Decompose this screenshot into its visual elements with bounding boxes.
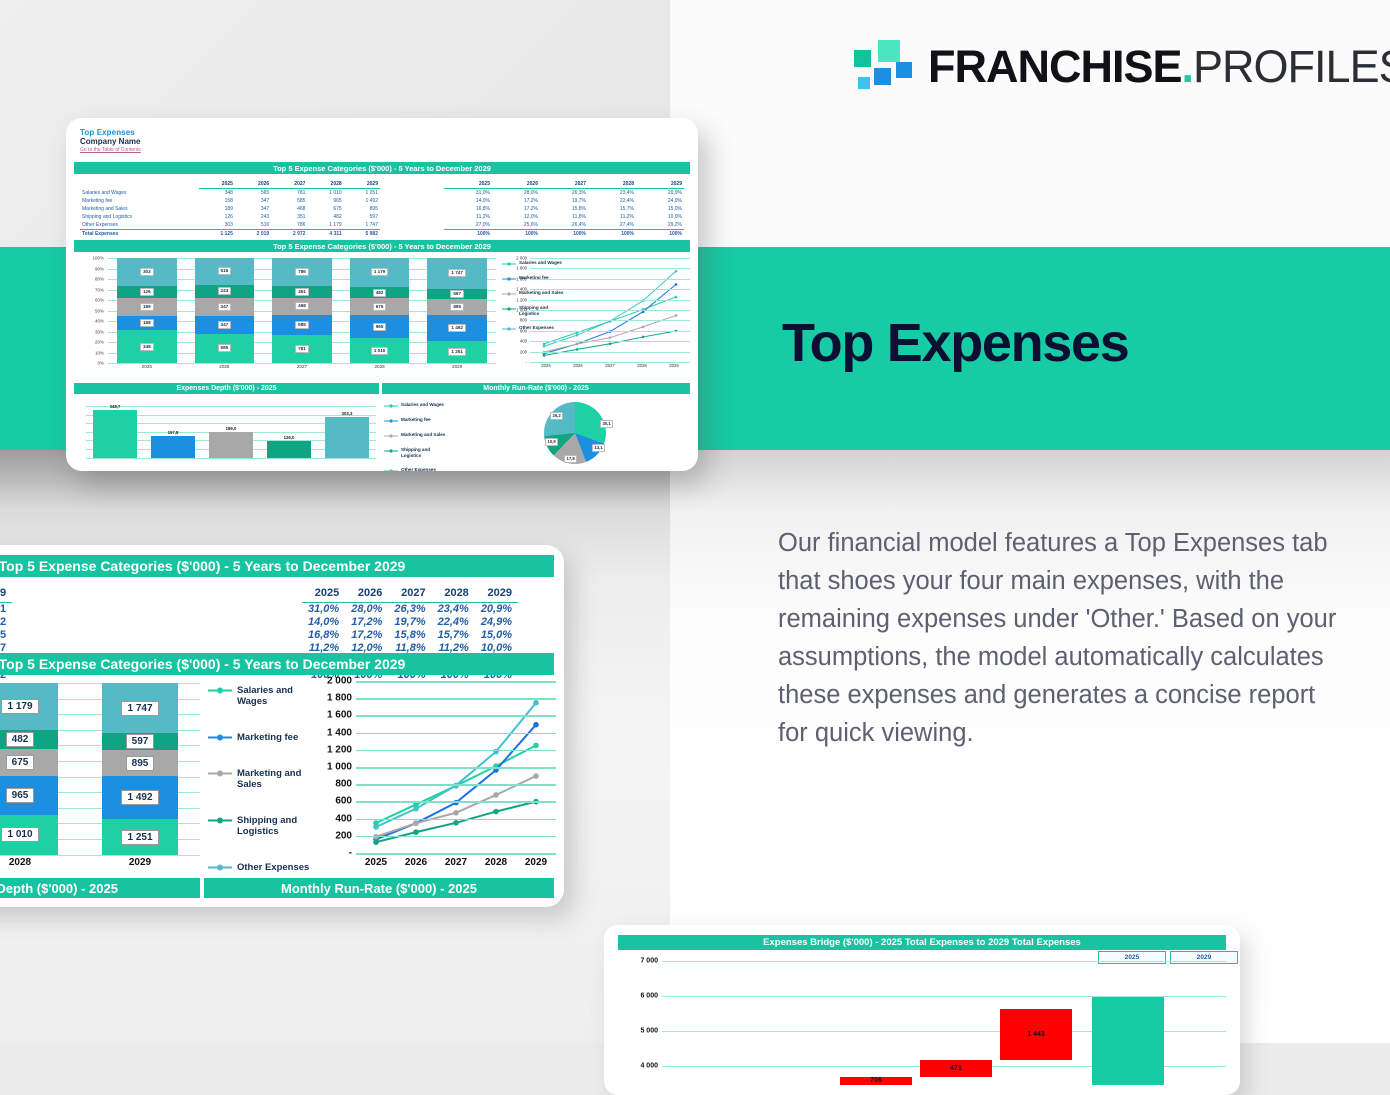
banner-top5-chart: Top 5 Expense Categories ($'000) - 5 Yea… xyxy=(74,240,690,252)
legend-item: Salaries and Wages xyxy=(384,402,447,408)
stacked-column: 348158189126303 xyxy=(117,258,177,363)
banner-top5-categories: Top 5 Expense Categories ($'000) - 5 Yea… xyxy=(74,162,690,174)
stacked-plot: 3481581891263035653473472435167815854683… xyxy=(108,258,496,363)
stack-segment: 895 xyxy=(102,750,178,776)
logo-dot: . xyxy=(1182,41,1194,92)
legend-marker-icon xyxy=(384,433,398,438)
table-row: 14,0% 17,2% 19,7% 22,4% 24,9% xyxy=(444,197,684,205)
axis-tick: 60% xyxy=(95,298,104,303)
legend-marker-icon xyxy=(384,403,398,408)
segment-value: 1 010 xyxy=(371,347,389,355)
segment-value: 965 xyxy=(373,323,387,331)
axis-tick: 400 xyxy=(335,813,352,824)
pie-label: 17,8 xyxy=(564,455,577,463)
axis-tick: 2 000 xyxy=(327,676,352,687)
legend-marker-icon xyxy=(208,816,232,825)
table-header-row: 2025 2026 2027 2028 2029 xyxy=(80,180,380,189)
axis-tick: 2029 xyxy=(516,857,556,868)
axis-tick: 2029 xyxy=(80,857,200,868)
axis-tick: 5 000 xyxy=(640,1028,658,1035)
segment-value: 675 xyxy=(373,303,387,311)
bar-value: 189,0 xyxy=(209,426,253,431)
stack-segment: 1 492 xyxy=(427,315,487,341)
stack-segment: 303 xyxy=(117,258,177,286)
chart-monthly-runrate: Salaries and WagesMarketing feeMarketing… xyxy=(384,398,690,468)
depth-bar: 126,0 xyxy=(267,441,311,458)
depth-bar: 157,8 xyxy=(151,436,195,458)
segment-value: 482 xyxy=(6,732,35,747)
legend-label: Shipping and Logistics xyxy=(237,815,315,837)
axis-tick: 1 400 xyxy=(516,287,527,292)
table-total-row: 100% 100% 100% 100% 100% xyxy=(444,230,684,239)
legend-marker-icon xyxy=(208,733,232,742)
axis-tick: 2025 xyxy=(108,364,186,369)
segment-value: 303 xyxy=(140,268,154,276)
legend-label: Salaries and Wages xyxy=(237,685,315,707)
axis-tick: 2028 xyxy=(341,364,419,369)
axis-tick: 1 000 xyxy=(327,762,352,773)
stack-segment: 1 010 xyxy=(350,338,410,363)
table-row: 565 781 1 010 1 251 xyxy=(0,603,12,617)
axis-tick: 400 xyxy=(520,339,527,344)
segment-value: 1 747 xyxy=(448,269,466,277)
segment-value: 1 010 xyxy=(1,827,38,842)
table-row: 31,0% 28,0% 26,3% 23,4% 20,9% xyxy=(302,603,518,617)
axis-tick: 30% xyxy=(95,329,104,334)
legend-marker-icon xyxy=(208,686,232,695)
stacked-column: 1 0109656754821 179 xyxy=(350,258,410,363)
stack-segment: 347 xyxy=(195,298,255,316)
axis-tick: 70% xyxy=(95,287,104,292)
legend-item: Marketing fee xyxy=(208,732,315,743)
screenshot-card-top-expenses[interactable]: Top Expenses Company Name Go to the Tabl… xyxy=(66,118,698,471)
stack-segment: 1 747 xyxy=(102,683,178,733)
page-title: Top Expenses xyxy=(782,312,1129,374)
legend-item: Other Expenses xyxy=(208,862,315,873)
depth-bar: 348,7 xyxy=(93,410,137,458)
axis-tick: 1 600 xyxy=(327,710,352,721)
axis-tick: 2 000 xyxy=(516,256,527,261)
axis-tick: 6 000 xyxy=(640,993,658,1000)
chart-legend-zoom: Salaries and WagesMarketing feeMarketing… xyxy=(208,685,315,898)
line-x-axis-zoom: 20252026202720282029 xyxy=(356,857,556,868)
stacked-column: 781585468351786 xyxy=(272,258,332,363)
table-row: Salaries and Wages 348 565 781 1 010 1 2… xyxy=(80,189,380,198)
axis-tick: 2027 xyxy=(436,857,476,868)
legend-marker-icon xyxy=(208,769,232,778)
segment-value: 1 179 xyxy=(371,268,389,276)
banner-monthly-runrate: Monthly Run-Rate ($'000) - 2025 xyxy=(382,383,690,394)
segment-value: 786 xyxy=(295,268,309,276)
axis-tick: 2025 xyxy=(530,363,562,368)
banner-expenses-depth: Expenses Depth ($'000) - 2025 xyxy=(74,383,379,394)
segment-value: 585 xyxy=(295,321,309,329)
bridge-bar: 471 xyxy=(920,1060,992,1077)
stacked-x-axis: 20252026202720282029 xyxy=(108,364,496,369)
chart-stacked-bar-100: 100%90%80%70%60%50%40%30%20%10%0% 348158… xyxy=(76,258,496,378)
axis-tick: 1 200 xyxy=(516,297,527,302)
table-row: 31,0% 28,0% 26,3% 23,4% 20,9% xyxy=(444,189,684,198)
stack-segment: 1 747 xyxy=(427,258,487,289)
banner-expenses-depth-zoom: Expenses Depth ($'000) - 2025 xyxy=(0,878,200,898)
stacked-x-axis-zoom: 202720282029 xyxy=(0,857,200,868)
stack-segment: 675 xyxy=(0,749,58,776)
axis-tick: 800 xyxy=(520,318,527,323)
legend-label: Marketing fee xyxy=(237,732,315,743)
stack-segment: 468 xyxy=(272,298,332,315)
line-x-axis: 20252026202720282029 xyxy=(530,363,690,368)
screenshot-card-zoom-table[interactable]: Top 5 Expense Categories ($'000) - 5 Yea… xyxy=(0,545,564,907)
segment-value: 1 251 xyxy=(121,830,158,845)
logo-squares-icon xyxy=(852,38,910,96)
axis-tick: 2028 xyxy=(0,857,80,868)
stack-segment: 565 xyxy=(195,334,255,363)
axis-tick: 2028 xyxy=(476,857,516,868)
axis-tick: 20% xyxy=(95,340,104,345)
axis-tick: 2028 xyxy=(626,363,658,368)
table-row: 11,2% 12,0% 11,8% 11,2% 10,0% xyxy=(444,213,684,221)
segment-value: 468 xyxy=(295,302,309,310)
line-y-axis: 2 0001 8001 6001 4001 2001 0008006004002… xyxy=(506,258,528,362)
bar-value: 348,7 xyxy=(93,404,137,409)
logo-bold-text: FRANCHISE xyxy=(928,41,1182,92)
legend-label: Marketing and Sales xyxy=(401,432,447,438)
segment-value: 895 xyxy=(450,303,464,311)
banner-monthly-runrate-zoom: Monthly Run-Rate ($'000) - 2025 xyxy=(204,878,554,898)
segment-value: 126 xyxy=(140,288,154,296)
axis-tick: 80% xyxy=(95,277,104,282)
table-row: Marketing fee 158 347 585 965 1 492 xyxy=(80,197,380,205)
stack-segment: 189 xyxy=(117,298,177,316)
bridge-y-axis: 7 0006 0005 0004 000 xyxy=(618,961,660,1085)
axis-tick: 200 xyxy=(520,349,527,354)
stack-segment: 965 xyxy=(0,776,58,814)
segment-value: 348 xyxy=(140,343,154,351)
stack-segment: 1 179 xyxy=(350,258,410,287)
brand-logo: FRANCHISE.PROFILES xyxy=(852,38,1390,96)
axis-tick: 600 xyxy=(520,328,527,333)
segment-value: 597 xyxy=(126,734,155,749)
logo-wordmark: FRANCHISE.PROFILES xyxy=(928,41,1390,93)
axis-tick: 4 000 xyxy=(640,1063,658,1070)
stack-segment: 348 xyxy=(117,330,177,363)
axis-tick: 2026 xyxy=(396,857,436,868)
bridge-bar: 706 xyxy=(840,1077,912,1085)
stack-segment: 516 xyxy=(195,258,255,285)
line-y-axis-zoom: 2 0001 8001 6001 4001 2001 0008006004002… xyxy=(310,681,354,853)
stack-segment: 347 xyxy=(195,316,255,334)
stack-segment: 126 xyxy=(117,286,177,298)
axis-tick: 1 800 xyxy=(516,266,527,271)
segment-value: 1 492 xyxy=(121,790,158,805)
stack-segment: 781 xyxy=(272,335,332,363)
legend-label: Shipping and Logistics xyxy=(401,447,447,458)
stacked-column: 1 2511 4928955971 747 xyxy=(427,258,487,363)
axis-tick: 7 000 xyxy=(640,958,658,965)
stack-segment: 1 492 xyxy=(102,776,178,819)
table-row: 347 585 965 1 492 xyxy=(0,616,12,629)
stack-segment: 1 251 xyxy=(102,819,178,855)
percent-table: 2025 2026 2027 2028 2029 31,0% 28,0% 26,… xyxy=(444,180,684,238)
banner-top5-categories-zoom: Top 5 Expense Categories ($'000) - 5 Yea… xyxy=(0,555,554,577)
table-total-row: Total Expenses 1 125 2 019 2 972 4 311 5… xyxy=(80,230,380,239)
bridge-plot: 7064711 443 xyxy=(662,961,1226,1085)
stack-segment: 158 xyxy=(117,316,177,331)
screenshot-card-expenses-bridge[interactable]: Expenses Bridge ($'000) - 2025 Total Exp… xyxy=(604,925,1240,1095)
axis-tick: 1 400 xyxy=(327,727,352,738)
segment-value: 781 xyxy=(295,345,309,353)
stack-segment: 1 010 xyxy=(0,815,58,855)
stack-segment: 243 xyxy=(195,285,255,298)
table-header-row: 2025 2026 2027 2028 2029 xyxy=(444,180,684,189)
stacked-plot-zoom: 7815854683517861 0109656754821 1791 2511… xyxy=(0,683,200,855)
segment-value: 351 xyxy=(295,288,309,296)
pie-label: 26,2 xyxy=(550,412,563,420)
pie-label: 13,1 xyxy=(592,444,605,452)
axis-tick: 50% xyxy=(95,308,104,313)
axis-tick: 2029 xyxy=(418,364,496,369)
axis-tick: 600 xyxy=(335,796,352,807)
stack-segment: 597 xyxy=(427,289,487,300)
axis-tick: 10% xyxy=(95,350,104,355)
table-header-row: 2025 2026 2027 2028 2029 xyxy=(302,587,518,603)
stacked-y-axis: 100%90%80%70%60%50%40%30%20%10%0% xyxy=(76,258,106,363)
description-text: Our financial model features a Top Expen… xyxy=(778,524,1344,752)
axis-tick: 2027 xyxy=(263,364,341,369)
segment-value: 565 xyxy=(218,344,232,352)
segment-value: 516 xyxy=(218,267,232,275)
segment-value: 965 xyxy=(6,788,35,803)
depth-bar: 303,3 xyxy=(325,417,369,459)
axis-tick: 2026 xyxy=(186,364,264,369)
segment-value: 1 492 xyxy=(448,324,466,332)
chart-legend-bottom: Salaries and WagesMarketing feeMarketing… xyxy=(384,402,447,471)
table-header-row: 2026 2027 2028 2029 xyxy=(0,587,12,603)
stack-segment: 675 xyxy=(350,298,410,314)
stack-segment: 351 xyxy=(272,286,332,298)
axis-tick: 0% xyxy=(97,361,104,366)
table-row: Other Expenses 303 516 786 1 179 1 747 xyxy=(80,221,380,230)
table-row: 16,8% 17,2% 15,8% 15,7% 15,0% xyxy=(302,629,518,642)
table-row: 14,0% 17,2% 19,7% 22,4% 24,9% xyxy=(302,616,518,629)
bridge-bar xyxy=(1092,997,1164,1085)
legend-marker-icon xyxy=(208,863,232,872)
segment-value: 158 xyxy=(140,319,154,327)
spreadsheet-sheet: Top Expenses Company Name Go to the Tabl… xyxy=(66,118,698,471)
pie-label: 10,9 xyxy=(545,438,558,446)
axis-tick: 2027 xyxy=(594,363,626,368)
depth-bar: 189,0 xyxy=(209,432,253,458)
axis-tick: 800 xyxy=(335,779,352,790)
line-plot xyxy=(530,258,690,362)
legend-item: Marketing and Sales xyxy=(208,768,315,790)
legend-item: Other Expenses xyxy=(384,467,447,471)
legend-label: Salaries and Wages xyxy=(401,402,447,408)
legend-label: Marketing fee xyxy=(401,417,447,423)
segment-value: 347 xyxy=(218,321,232,329)
stack-segment: 786 xyxy=(272,258,332,286)
bar-value: 303,3 xyxy=(325,411,369,416)
axis-tick: - xyxy=(349,848,352,859)
toc-link[interactable]: Go to the Table of Contents xyxy=(80,147,141,153)
table-row: Shipping and Logistics 126 243 351 482 5… xyxy=(80,213,380,221)
segment-value: 1 747 xyxy=(121,701,158,716)
axis-tick: 200 xyxy=(335,830,352,841)
bar-value: 126,0 xyxy=(267,435,311,440)
stack-segment: 895 xyxy=(427,299,487,315)
sheet-subtitle: Company Name xyxy=(80,137,140,146)
segment-value: 1 251 xyxy=(448,348,466,356)
stack-segment: 1 251 xyxy=(427,341,487,363)
legend-item: Shipping and Logistics xyxy=(384,447,447,458)
bridge-bar: 1 443 xyxy=(1000,1009,1072,1060)
axis-tick: 2026 xyxy=(562,363,594,368)
segment-value: 189 xyxy=(140,303,154,311)
stack-segment: 965 xyxy=(350,315,410,339)
legend-marker-icon xyxy=(384,418,398,423)
segment-value: 597 xyxy=(450,290,464,298)
axis-tick: 1 600 xyxy=(516,276,527,281)
axis-tick: 40% xyxy=(95,319,104,324)
stack-segment: 1 179 xyxy=(0,683,58,730)
axis-tick: 1 800 xyxy=(327,693,352,704)
stack-segment: 585 xyxy=(272,315,332,336)
chart-expenses-depth: 348,7157,8189,0126,0303,3 xyxy=(78,400,378,466)
axis-tick: - xyxy=(526,360,527,365)
axis-tick: 90% xyxy=(95,266,104,271)
table-row: 27,0% 25,6% 26,4% 27,4% 29,2% xyxy=(444,221,684,230)
stack-segment: 597 xyxy=(102,733,178,750)
table-row: Marketing and Sales 189 347 468 675 895 xyxy=(80,205,380,213)
banner-expenses-bridge: Expenses Bridge ($'000) - 2025 Total Exp… xyxy=(618,935,1226,950)
table-row: 16,8% 17,2% 15,8% 15,7% 15,0% xyxy=(444,205,684,213)
chart-stacked-bar-zoom: 7815854683517861 0109656754821 1791 2511… xyxy=(0,683,200,879)
stack-segment: 482 xyxy=(350,287,410,299)
banner-top5-chart-zoom: Top 5 Expense Categories ($'000) - 5 Yea… xyxy=(0,653,554,675)
segment-value: 1 179 xyxy=(1,699,38,714)
pie-label: 30,1 xyxy=(600,420,613,428)
segment-value: 243 xyxy=(218,287,232,295)
legend-label: Other Expenses xyxy=(401,467,447,471)
sheet-title: Top Expenses xyxy=(80,128,135,137)
bar-value: 157,8 xyxy=(151,430,195,435)
depth-plot: 348,7157,8189,0126,0303,3 xyxy=(86,406,376,458)
axis-tick: 1 000 xyxy=(516,308,527,313)
values-table: 2025 2026 2027 2028 2029 Salaries and Wa… xyxy=(80,180,380,238)
stacked-column-zoom: 1 2511 4928955971 747 xyxy=(102,683,178,855)
segment-value: 675 xyxy=(6,755,35,770)
stack-segment: 482 xyxy=(0,730,58,749)
logo-light-text: PROFILES xyxy=(1193,41,1390,92)
legend-item: Marketing fee xyxy=(384,417,447,423)
axis-tick: 1 200 xyxy=(327,744,352,755)
legend-item: Shipping and Logistics xyxy=(208,815,315,837)
segment-value: 482 xyxy=(373,289,387,297)
segment-value: 895 xyxy=(126,756,155,771)
axis-tick: 100% xyxy=(92,256,104,261)
line-plot-zoom xyxy=(356,681,556,853)
axis-tick: 2029 xyxy=(658,363,690,368)
legend-marker-icon xyxy=(384,448,398,453)
stacked-column-zoom: 1 0109656754821 179 xyxy=(0,683,58,855)
legend-marker-icon xyxy=(384,468,398,471)
legend-label: Other Expenses xyxy=(237,862,315,873)
legend-item: Salaries and Wages xyxy=(208,685,315,707)
axis-tick: 2025 xyxy=(356,857,396,868)
table-row: 347 468 675 895 xyxy=(0,629,12,642)
chart-line-zoom: 2 0001 8001 6001 4001 2001 0008006004002… xyxy=(310,681,556,881)
chart-line-top: 2 0001 8001 6001 4001 2001 0008006004002… xyxy=(506,258,692,380)
segment-value: 347 xyxy=(218,303,232,311)
stacked-column: 565347347243516 xyxy=(195,258,255,363)
legend-label: Marketing and Sales xyxy=(237,768,315,790)
legend-item: Marketing and Sales xyxy=(384,432,447,438)
